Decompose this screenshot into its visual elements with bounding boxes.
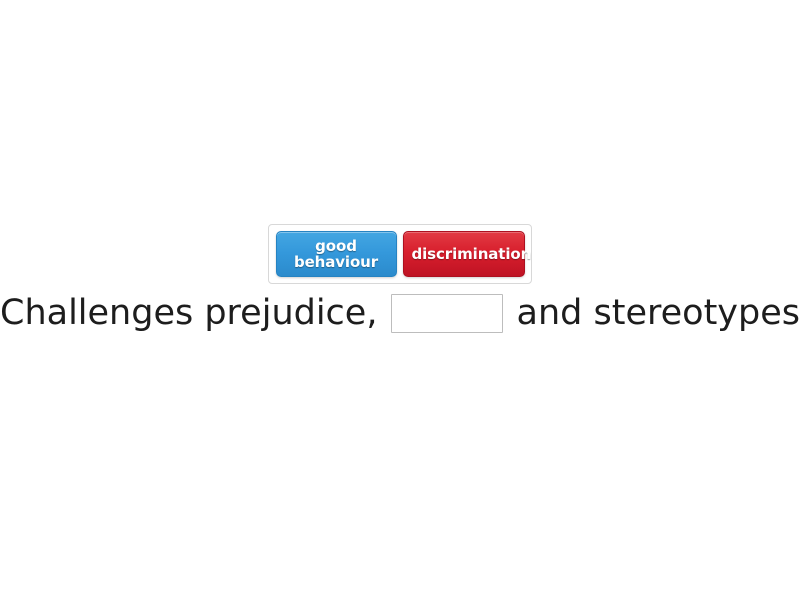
tile-label-line2: behaviour — [294, 253, 378, 271]
tile-bank: goodbehaviour discrimination — [268, 224, 532, 284]
sentence-text-before: Challenges prejudice, — [0, 293, 377, 333]
activity-stage: goodbehaviour discrimination Challenges … — [0, 0, 800, 600]
sentence-row: Challenges prejudice, and stereotypes — [0, 293, 800, 333]
sentence-text-after: and stereotypes — [517, 293, 800, 333]
tile-label-good-behaviour: goodbehaviour — [285, 238, 388, 270]
draggable-tile-good-behaviour[interactable]: goodbehaviour — [276, 231, 397, 277]
tile-label-discrimination: discrimination — [412, 246, 516, 262]
draggable-tile-discrimination[interactable]: discrimination — [403, 231, 525, 277]
answer-drop-zone[interactable] — [391, 294, 502, 333]
